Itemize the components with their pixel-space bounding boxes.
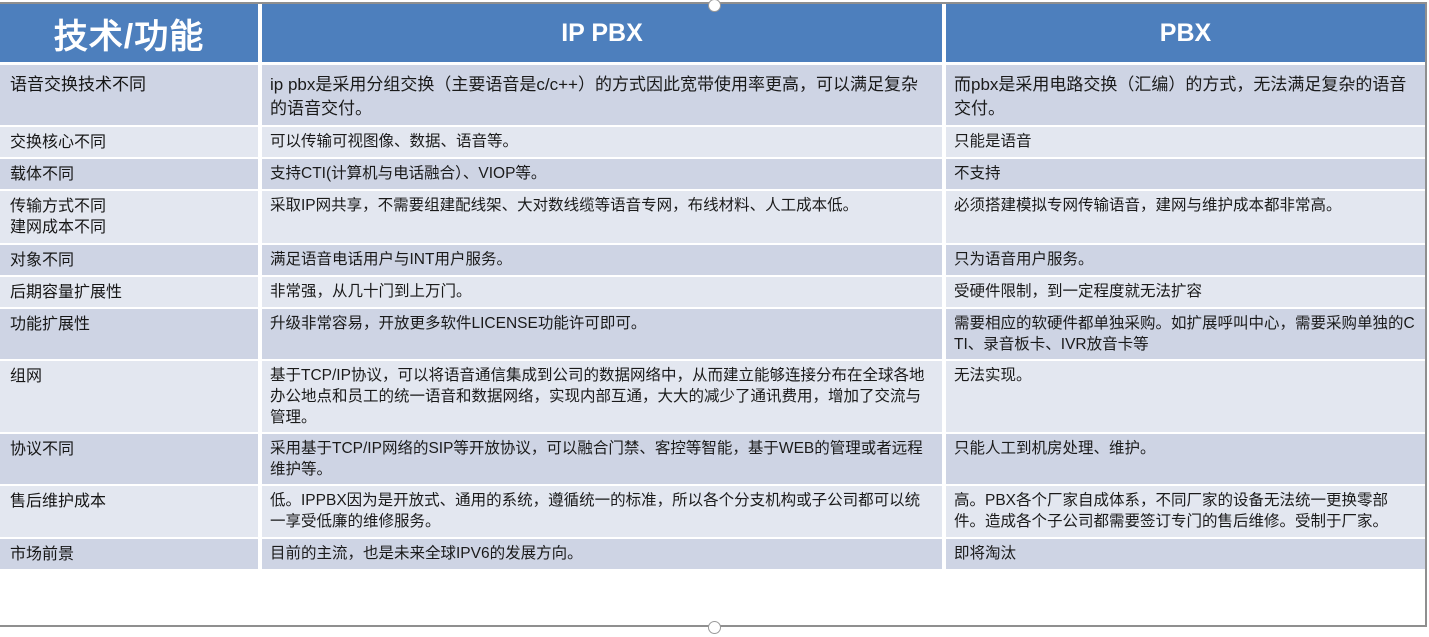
row-ippbx-cell: ip pbx是采用分组交换（主要语音是c/c++）的方式因此宽带使用率更高，可以… [262, 65, 946, 127]
row-pbx-cell: 只为语音用户服务。 [946, 245, 1425, 277]
row-ippbx-cell: 目前的主流，也是未来全球IPV6的发展方向。 [262, 539, 946, 571]
table-header: 技术/功能 IP PBX PBX [0, 4, 1425, 65]
row-pbx-cell: 即将淘汰 [946, 539, 1425, 571]
table-row: 传输方式不同 建网成本不同 采取IP网共享，不需要组建配线架、大对数线缆等语音专… [0, 191, 1425, 245]
comparison-table-object[interactable]: 技术/功能 IP PBX PBX 语音交换技术不同 ip pbx是采用分组交换（… [0, 2, 1427, 627]
row-label: 协议不同 [0, 434, 262, 486]
table-row: 售后维护成本 低。IPPBX因为是开放式、通用的系统，遵循统一的标准，所以各个分… [0, 486, 1425, 538]
header-cell-ip-pbx: IP PBX [262, 4, 946, 65]
table-row: 协议不同 采用基于TCP/IP网络的SIP等开放协议，可以融合门禁、客控等智能，… [0, 434, 1425, 486]
row-ippbx-cell: 基于TCP/IP协议，可以将语音通信集成到公司的数据网络中，从而建立能够连接分布… [262, 361, 946, 434]
header-cell-feature: 技术/功能 [0, 4, 262, 65]
row-pbx-cell: 必须搭建模拟专网传输语音，建网与维护成本都非常高。 [946, 191, 1425, 245]
row-label: 组网 [0, 361, 262, 434]
row-label: 对象不同 [0, 245, 262, 277]
comparison-table: 技术/功能 IP PBX PBX 语音交换技术不同 ip pbx是采用分组交换（… [0, 4, 1425, 571]
header-cell-pbx: PBX [946, 4, 1425, 65]
row-pbx-cell: 无法实现。 [946, 361, 1425, 434]
header-row: 技术/功能 IP PBX PBX [0, 4, 1425, 65]
row-ippbx-cell: 支持CTI(计算机与电话融合）、VIOP等。 [262, 159, 946, 191]
table-row: 语音交换技术不同 ip pbx是采用分组交换（主要语音是c/c++）的方式因此宽… [0, 65, 1425, 127]
table-row: 对象不同 满足语音电话用户与INT用户服务。 只为语音用户服务。 [0, 245, 1425, 277]
slide-canvas: 技术/功能 IP PBX PBX 语音交换技术不同 ip pbx是采用分组交换（… [0, 0, 1429, 637]
row-ippbx-cell: 采取IP网共享，不需要组建配线架、大对数线缆等语音专网，布线材料、人工成本低。 [262, 191, 946, 245]
row-ippbx-cell: 可以传输可视图像、数据、语音等。 [262, 127, 946, 159]
table-row: 组网 基于TCP/IP协议，可以将语音通信集成到公司的数据网络中，从而建立能够连… [0, 361, 1425, 434]
row-ippbx-cell: 满足语音电话用户与INT用户服务。 [262, 245, 946, 277]
row-label: 载体不同 [0, 159, 262, 191]
row-pbx-cell: 高。PBX各个厂家自成体系，不同厂家的设备无法统一更换零部件。造成各个子公司都需… [946, 486, 1425, 538]
row-label: 交换核心不同 [0, 127, 262, 159]
table-row: 后期容量扩展性 非常强，从几十门到上万门。 受硬件限制，到一定程度就无法扩容 [0, 277, 1425, 309]
selection-handle-bottom-center[interactable] [708, 621, 721, 634]
row-label: 售后维护成本 [0, 486, 262, 538]
row-pbx-cell: 而pbx是采用电路交换（汇编）的方式，无法满足复杂的语音交付。 [946, 65, 1425, 127]
row-pbx-cell: 不支持 [946, 159, 1425, 191]
row-label: 功能扩展性 [0, 309, 262, 361]
row-pbx-cell: 需要相应的软硬件都单独采购。如扩展呼叫中心，需要采购单独的CTI、录音板卡、IV… [946, 309, 1425, 361]
row-ippbx-cell: 非常强，从几十门到上万门。 [262, 277, 946, 309]
row-pbx-cell: 只能人工到机房处理、维护。 [946, 434, 1425, 486]
row-label: 传输方式不同 建网成本不同 [0, 191, 262, 245]
row-pbx-cell: 只能是语音 [946, 127, 1425, 159]
row-pbx-cell: 受硬件限制，到一定程度就无法扩容 [946, 277, 1425, 309]
table-row: 市场前景 目前的主流，也是未来全球IPV6的发展方向。 即将淘汰 [0, 539, 1425, 571]
table-row: 载体不同 支持CTI(计算机与电话融合）、VIOP等。 不支持 [0, 159, 1425, 191]
row-label: 后期容量扩展性 [0, 277, 262, 309]
row-label-line2: 建网成本不同 [10, 217, 250, 238]
row-label: 市场前景 [0, 539, 262, 571]
row-ippbx-cell: 升级非常容易，开放更多软件LICENSE功能许可即可。 [262, 309, 946, 361]
row-label: 语音交换技术不同 [0, 65, 262, 127]
table-row: 交换核心不同 可以传输可视图像、数据、语音等。 只能是语音 [0, 127, 1425, 159]
table-row: 功能扩展性 升级非常容易，开放更多软件LICENSE功能许可即可。 需要相应的软… [0, 309, 1425, 361]
row-ippbx-cell: 采用基于TCP/IP网络的SIP等开放协议，可以融合门禁、客控等智能，基于WEB… [262, 434, 946, 486]
table-body: 语音交换技术不同 ip pbx是采用分组交换（主要语音是c/c++）的方式因此宽… [0, 65, 1425, 571]
row-ippbx-cell: 低。IPPBX因为是开放式、通用的系统，遵循统一的标准，所以各个分支机构或子公司… [262, 486, 946, 538]
row-label-line1: 传输方式不同 [10, 196, 250, 217]
